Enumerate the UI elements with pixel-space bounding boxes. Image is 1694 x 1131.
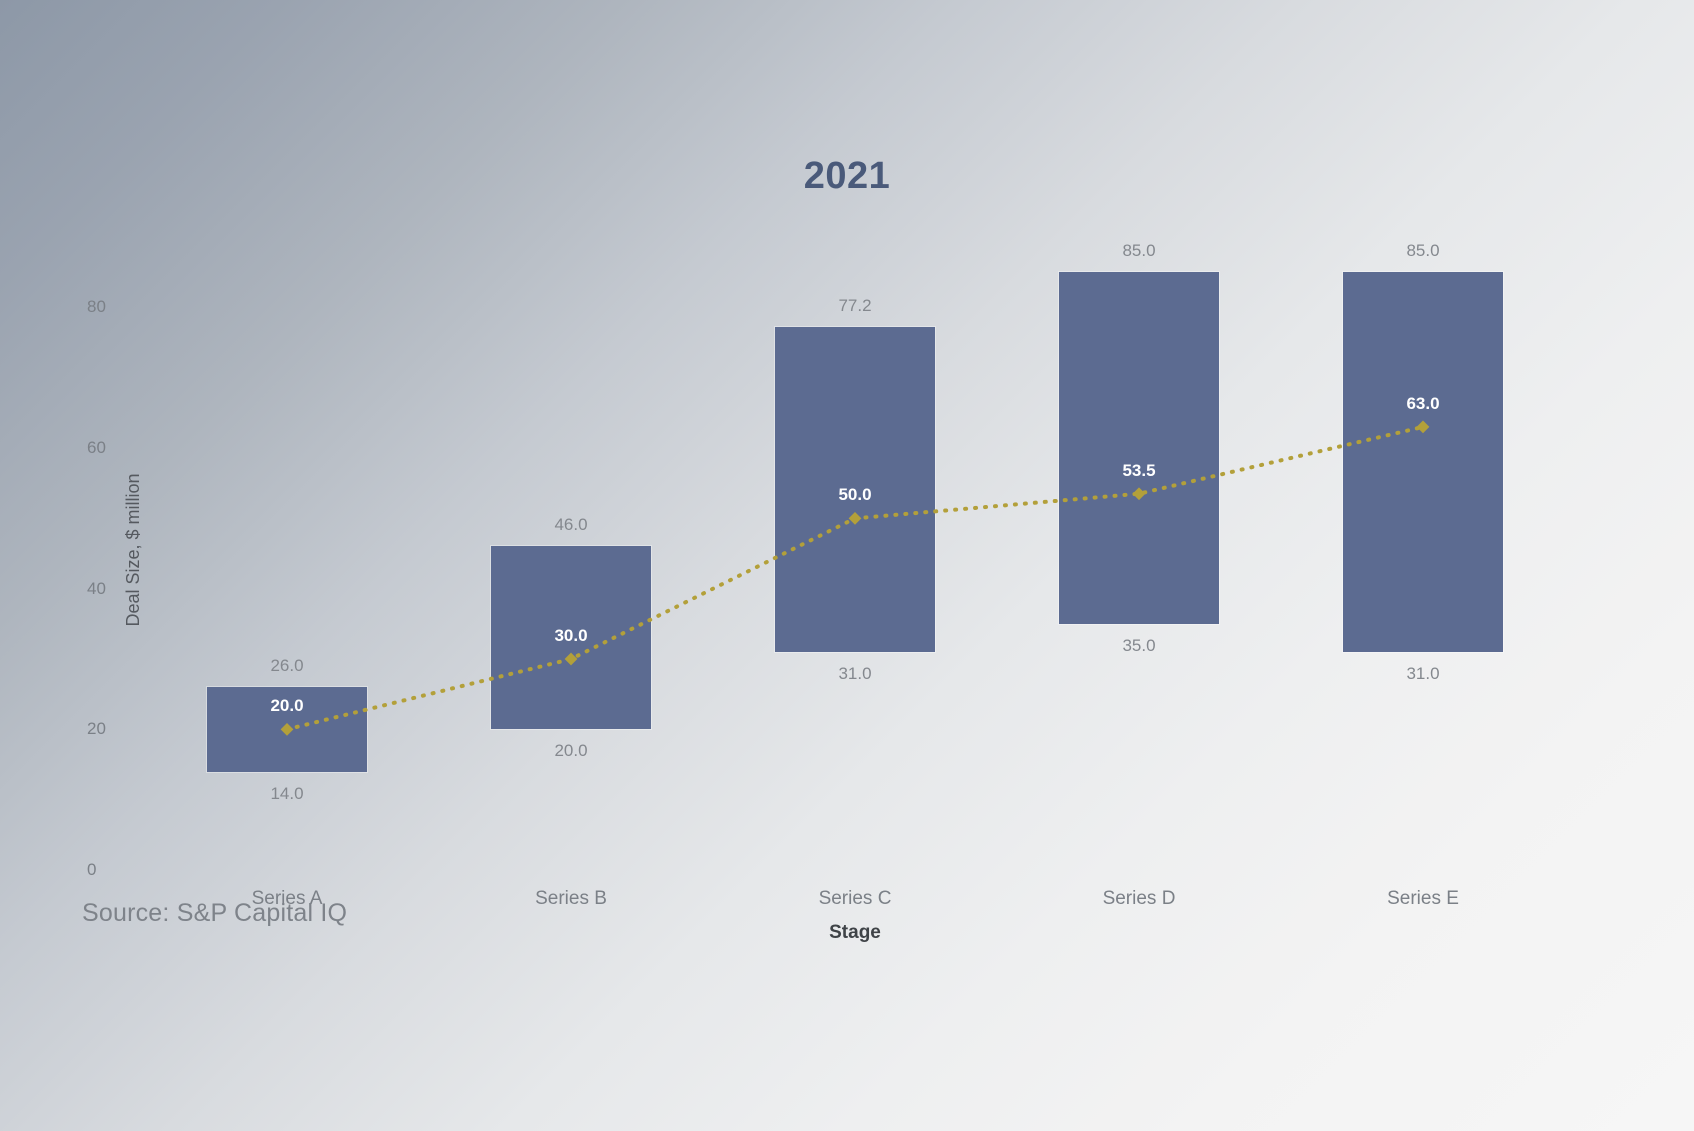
y-axis-tick-label: 80 — [87, 297, 106, 317]
y-axis-title: Deal Size, $ million — [123, 473, 144, 626]
x-axis-tick-label: Series D — [1103, 888, 1176, 910]
bar-high-label: 46.0 — [554, 515, 587, 535]
x-axis-title: Stage — [145, 922, 1565, 944]
x-axis-tick-label: Series B — [535, 888, 607, 910]
bar-low-label: 14.0 — [270, 784, 303, 804]
line-point-label: 30.0 — [554, 626, 587, 646]
bar-high-label: 85.0 — [1406, 241, 1439, 261]
x-axis-tick-label: Series E — [1387, 888, 1459, 910]
x-axis-tick-label: Series C — [819, 888, 892, 910]
y-axis-tick-label: 40 — [87, 579, 106, 599]
y-axis-tick-label: 20 — [87, 719, 106, 739]
bar-low-label: 35.0 — [1122, 636, 1155, 656]
bar[interactable] — [1343, 272, 1503, 652]
source-note: Source: S&P Capital IQ — [82, 899, 347, 928]
bar-high-label: 26.0 — [270, 656, 303, 676]
bar[interactable] — [1059, 272, 1219, 624]
bar-low-label: 31.0 — [1406, 664, 1439, 684]
y-axis-tick-label: 0 — [87, 860, 96, 880]
bar-high-label: 77.2 — [838, 296, 871, 316]
bar-low-label: 20.0 — [554, 741, 587, 761]
bar-low-label: 31.0 — [838, 664, 871, 684]
bar-high-label: 85.0 — [1122, 241, 1155, 261]
line-point-label: 20.0 — [270, 696, 303, 716]
line-point-label: 53.5 — [1122, 461, 1155, 481]
chart-title: 2021 — [0, 155, 1694, 198]
line-point-label: 50.0 — [838, 485, 871, 505]
line-point-label: 63.0 — [1406, 394, 1439, 414]
y-axis-tick-label: 60 — [87, 438, 106, 458]
chart-canvas: 2021 Deal Size, $ million 020406080 26.0… — [0, 0, 1694, 1131]
plot-area: Deal Size, $ million 020406080 26.014.04… — [145, 230, 1565, 870]
